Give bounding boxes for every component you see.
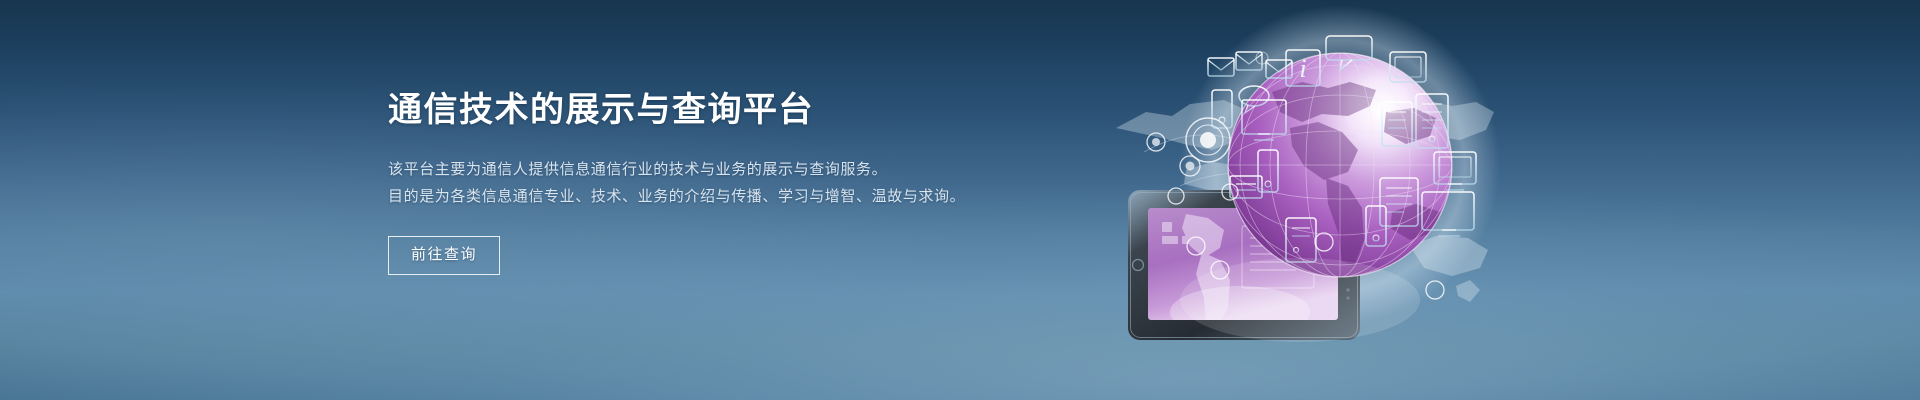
banner-copy: 通信技术的展示与查询平台 该平台主要为通信人提供信息通信行业的技术与业务的展示与… xyxy=(388,88,1088,275)
banner-description: 该平台主要为通信人提供信息通信行业的技术与业务的展示与查询服务。 目的是为各类信… xyxy=(388,156,1088,210)
page-title: 通信技术的展示与查询平台 xyxy=(388,88,1088,132)
description-line-1: 该平台主要为通信人提供信息通信行业的技术与业务的展示与查询服务。 xyxy=(388,156,1088,183)
hero-banner: i xyxy=(0,0,1920,400)
svg-text:i: i xyxy=(1299,54,1306,83)
description-line-2: 目的是为各类信息通信专业、技术、业务的介绍与传播、学习与增智、温故与求询。 xyxy=(388,183,1088,210)
go-to-query-button[interactable]: 前往查询 xyxy=(388,236,500,275)
hero-illustration: i xyxy=(1090,0,1510,360)
globe-bloom xyxy=(1180,258,1420,342)
